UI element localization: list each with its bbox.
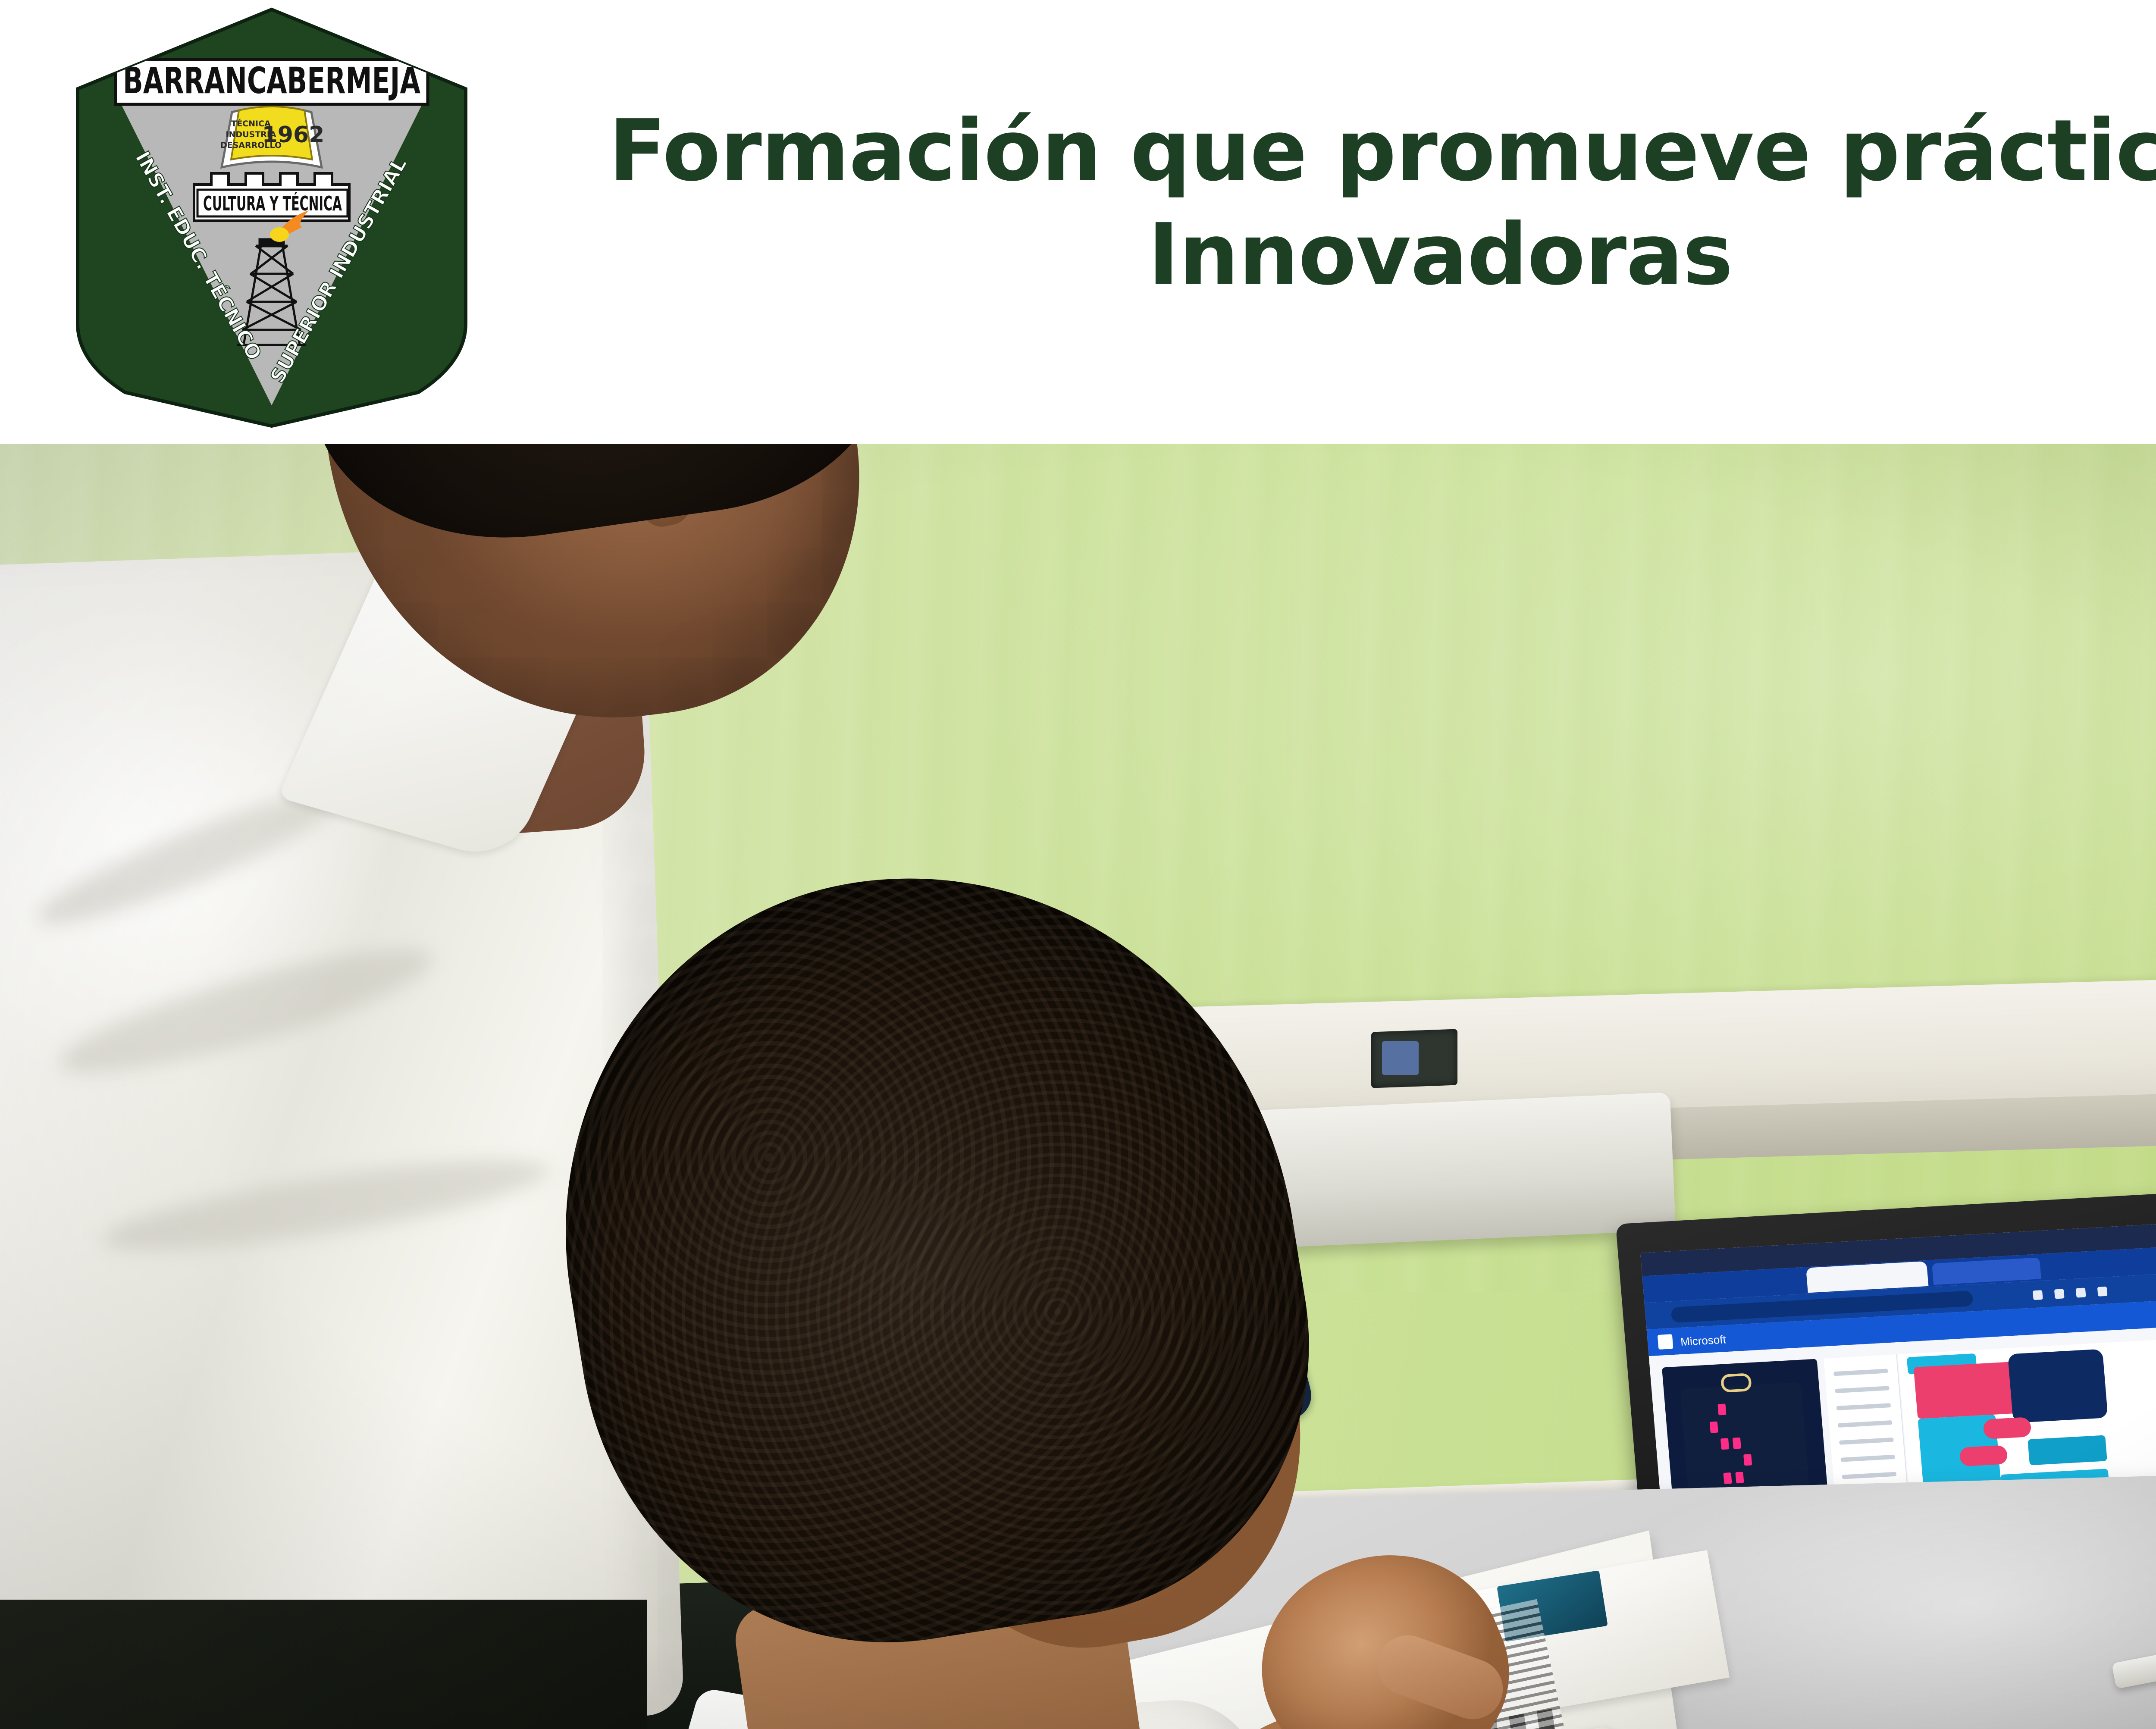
sim-led [1723, 1472, 1732, 1484]
sim-led [1743, 1454, 1752, 1466]
page-title-line-1: Formación que promueve prácticas [578, 99, 2156, 203]
crest-banner-text: BARRANCABERMEJA [123, 60, 420, 102]
sim-led [1717, 1404, 1726, 1416]
code-block-value[interactable] [1959, 1445, 2008, 1466]
foreground-shadow-left [0, 1600, 647, 1729]
school-crest-logo: BARRANCABERMEJA TÉCNICA INDUSTRIA DESARR… [65, 4, 479, 431]
wall-socket-inner [1382, 1041, 1419, 1075]
sim-led [1733, 1438, 1741, 1449]
microsoft-logo-icon [1658, 1334, 1673, 1350]
slide-root: BARRANCABERMEJA TÉCNICA INDUSTRIA DESARR… [0, 0, 2156, 1729]
settings-gear-icon[interactable] [2097, 1287, 2108, 1297]
page-title-line-2: Innovadoras [578, 203, 2156, 307]
page-title: Formación que promueve prácticas Innovad… [578, 99, 2156, 307]
crest-svg: BARRANCABERMEJA TÉCNICA INDUSTRIA DESARR… [65, 4, 479, 431]
share-icon[interactable] [2054, 1289, 2065, 1299]
crest-book-icon: TÉCNICA INDUSTRIA DESARROLLO 1962 [220, 106, 324, 167]
help-icon[interactable] [2076, 1288, 2086, 1298]
makecode-app-name: Microsoft [1680, 1333, 1727, 1349]
home-icon[interactable] [2033, 1290, 2043, 1300]
crest-ribbon-text: CULTURA Y TÉCNICA [203, 192, 342, 215]
header-band: BARRANCABERMEJA TÉCNICA INDUSTRIA DESARR… [0, 0, 2156, 444]
sim-led [1735, 1472, 1744, 1483]
sim-usb-connector [1720, 1373, 1752, 1393]
classroom-photo: Microsoft [0, 444, 2156, 1729]
code-block-set[interactable] [2028, 1435, 2107, 1465]
code-block-value[interactable] [1983, 1417, 2032, 1439]
sim-led [1720, 1438, 1729, 1450]
sim-led [1710, 1422, 1718, 1433]
code-block-comment[interactable] [2008, 1349, 2108, 1423]
crest-book-year: 1962 [262, 122, 325, 148]
